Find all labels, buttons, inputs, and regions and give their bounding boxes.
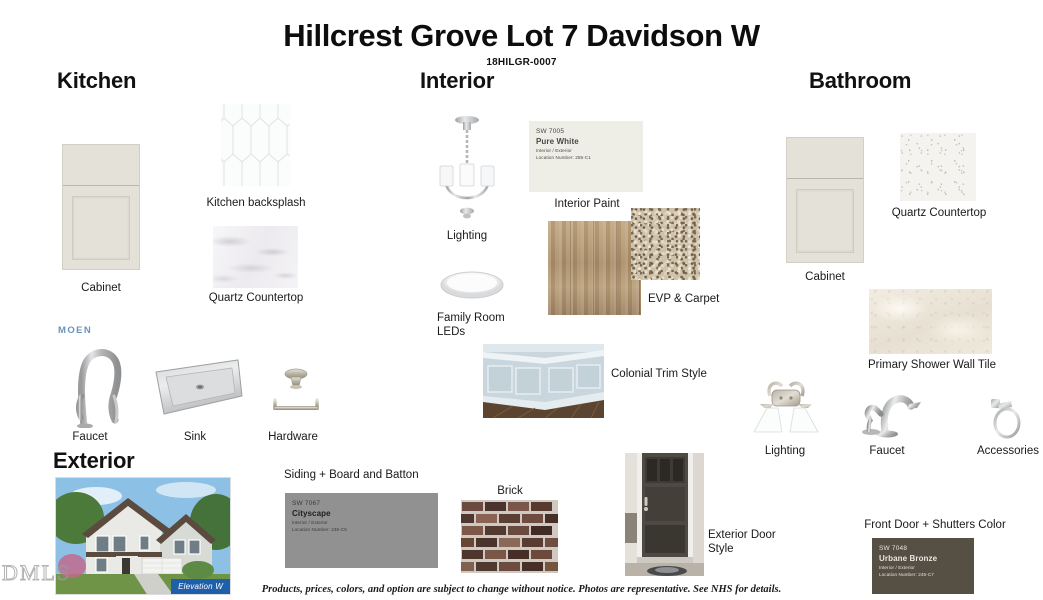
caption-kitchen-sink: Sink: [152, 430, 238, 444]
caption-exterior-door: Exterior DoorStyle: [708, 528, 818, 556]
bathroom-faucet-icon: [855, 388, 927, 440]
caption-family-room-leds: Family RoomLEDs: [437, 311, 547, 339]
caption-kitchen-hardware: Hardware: [243, 430, 343, 444]
paint-location: Location Number: 255-C1: [536, 154, 636, 161]
caption-bathroom-cabinet: Cabinet: [783, 270, 867, 284]
picket-tile-pattern: [221, 104, 290, 186]
front-door-image: [625, 453, 704, 576]
bathroom-quartz-swatch: [900, 133, 976, 201]
caption-brick: Brick: [462, 484, 558, 498]
kitchen-faucet-icon: [70, 338, 132, 428]
brick-pattern: [461, 500, 558, 573]
caption-bathroom-countertop: Quartz Countertop: [880, 206, 998, 220]
bathroom-cabinet-swatch: [786, 137, 864, 263]
paint-location: Location Number: 245-C7: [879, 571, 967, 578]
section-heading-kitchen: Kitchen: [57, 68, 136, 94]
paint-code: SW 7048: [879, 544, 967, 553]
cabinet-shaker-panel: [796, 189, 854, 254]
paint-code: SW 7067: [292, 499, 431, 508]
cabinet-drawer-face: [787, 138, 863, 179]
caption-shower-tile: Primary Shower Wall Tile: [857, 358, 1007, 372]
caption-kitchen-backsplash: Kitchen backsplash: [186, 196, 326, 210]
caption-evp-carpet: EVP & Carpet: [648, 292, 768, 306]
paint-usage: Interior / Exterior: [536, 147, 636, 154]
page-title: Hillcrest Grove Lot 7 Davidson W: [0, 18, 1043, 54]
exterior-door-photo: [625, 453, 704, 576]
section-heading-bathroom: Bathroom: [809, 68, 911, 94]
colonial-trim-swatch: [483, 344, 604, 418]
shower-wall-tile-swatch: [869, 289, 992, 354]
paint-name: Urbane Bronze: [879, 553, 967, 564]
caption-kitchen-faucet: Faucet: [45, 430, 135, 444]
caption-front-door-color: Front Door + Shutters Color: [840, 518, 1030, 532]
moen-brand-logo: MOEN: [58, 325, 92, 336]
bathroom-accessories-icon: [985, 396, 1029, 442]
elevation-photo: Elevation W: [55, 477, 231, 595]
job-number: 18HILGR-0007: [0, 57, 1043, 68]
cabinet-shaker-panel: [72, 196, 130, 261]
kitchen-sink-icon: [150, 356, 244, 418]
paint-name: Cityscape: [292, 508, 431, 519]
caption-interior-lighting: Lighting: [410, 229, 524, 243]
paint-code: SW 7005: [536, 127, 636, 136]
interior-chandelier-icon: [432, 112, 502, 224]
section-heading-exterior: Exterior: [53, 448, 135, 474]
carpet-swatch: [631, 208, 700, 280]
section-heading-interior: Interior: [420, 68, 494, 94]
caption-bathroom-accessories: Accessories: [958, 444, 1043, 458]
kitchen-quartz-swatch: [213, 226, 298, 288]
watermark: DMLS: [2, 560, 71, 586]
paint-usage: Interior / Exterior: [292, 519, 431, 526]
interior-paint-chip: SW 7005 Pure White Interior / Exterior L…: [529, 121, 643, 192]
evp-flooring-swatch: [548, 221, 641, 315]
paint-name: Pure White: [536, 136, 636, 147]
caption-siding: Siding + Board and Batton: [284, 468, 434, 482]
caption-bathroom-faucet: Faucet: [846, 444, 928, 458]
house-rendering: [56, 478, 231, 595]
caption-kitchen-cabinet: Cabinet: [59, 281, 143, 295]
design-selection-sheet: Hillcrest Grove Lot 7 Davidson W 18HILGR…: [0, 0, 1043, 600]
caption-kitchen-countertop: Quartz Countertop: [186, 291, 326, 305]
wainscoting-photo: [483, 344, 604, 418]
caption-bathroom-lighting: Lighting: [730, 444, 840, 458]
paint-usage: Interior / Exterior: [879, 564, 967, 571]
kitchen-backsplash-swatch: [221, 104, 290, 186]
family-room-led-icon: [440, 270, 504, 300]
bathroom-vanity-light-icon: [748, 378, 824, 438]
disclaimer-text: Products, prices, colors, and option are…: [0, 584, 1043, 595]
cabinet-drawer-face: [63, 145, 139, 186]
siding-paint-chip: SW 7067 Cityscape Interior / Exterior Lo…: [285, 493, 438, 568]
kitchen-hardware-icon: [270, 364, 322, 418]
brick-swatch: [461, 500, 558, 573]
kitchen-cabinet-swatch: [62, 144, 140, 270]
paint-location: Location Number: 236-C5: [292, 526, 431, 533]
caption-colonial-trim: Colonial Trim Style: [611, 367, 731, 381]
